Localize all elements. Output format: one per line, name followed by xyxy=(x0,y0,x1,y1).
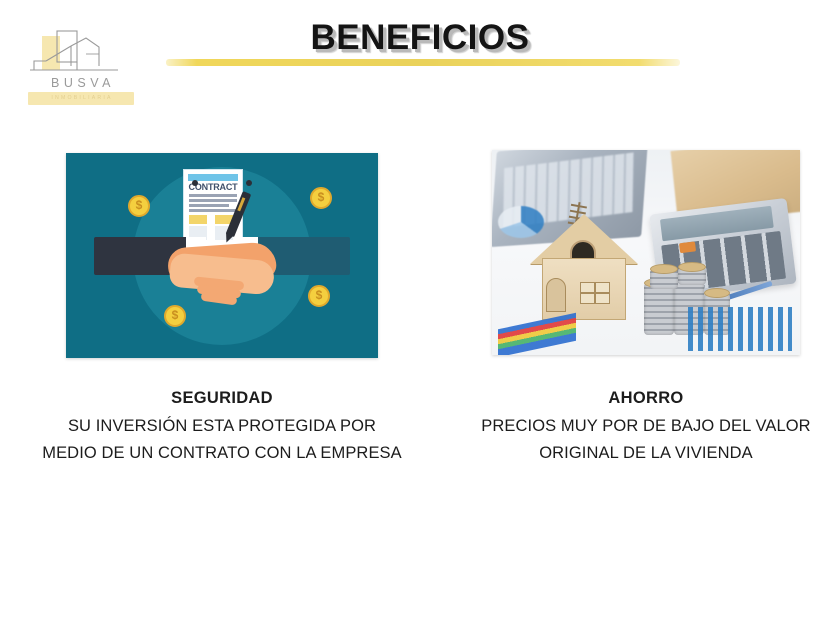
coin-stack xyxy=(650,269,678,289)
wooden-house-model-icon xyxy=(532,214,636,320)
coin-icon: $ xyxy=(310,187,332,209)
caption-body: PRECIOS MUY POR DE BAJO DEL VALOR ORIGIN… xyxy=(468,413,824,467)
caption-seguridad: SEGURIDAD SU INVERSIÓN ESTA PROTEGIDA PO… xyxy=(40,388,404,467)
coin-icon: $ xyxy=(164,305,186,327)
caption-heading: SEGURIDAD xyxy=(40,388,404,408)
logo-tagline: INMOBILIARIA xyxy=(28,92,134,105)
coin-icon: $ xyxy=(128,195,150,217)
slide-canvas: BUSVA INMOBILIARIA BENEFICIOS CONTRACT xyxy=(0,0,840,630)
caption-body: SU INVERSIÓN ESTA PROTEGIDA POR MEDIO DE… xyxy=(40,413,404,467)
cuff-button-right xyxy=(246,180,252,186)
coin-stack xyxy=(678,267,706,285)
bar-chart-graphic xyxy=(688,307,792,351)
benefit-card-ahorro xyxy=(492,150,800,355)
logo-tagline-band: INMOBILIARIA xyxy=(28,92,134,105)
caption-ahorro: AHORRO PRECIOS MUY POR DE BAJO DEL VALOR… xyxy=(468,388,824,467)
caption-heading: AHORRO xyxy=(468,388,824,408)
title-underline-rule xyxy=(166,59,680,66)
cuff-button-left xyxy=(192,180,198,186)
logo-wordmark: BUSVA xyxy=(26,76,136,90)
benefit-card-seguridad: CONTRACT xyxy=(66,153,378,358)
house-model-calculator-photo xyxy=(492,150,800,355)
handshake-icon xyxy=(164,239,280,305)
coin-icon: $ xyxy=(308,285,330,307)
page-title: BENEFICIOS xyxy=(0,18,840,58)
handshake-contract-illustration: CONTRACT xyxy=(66,153,378,358)
coin-stack xyxy=(644,283,674,335)
